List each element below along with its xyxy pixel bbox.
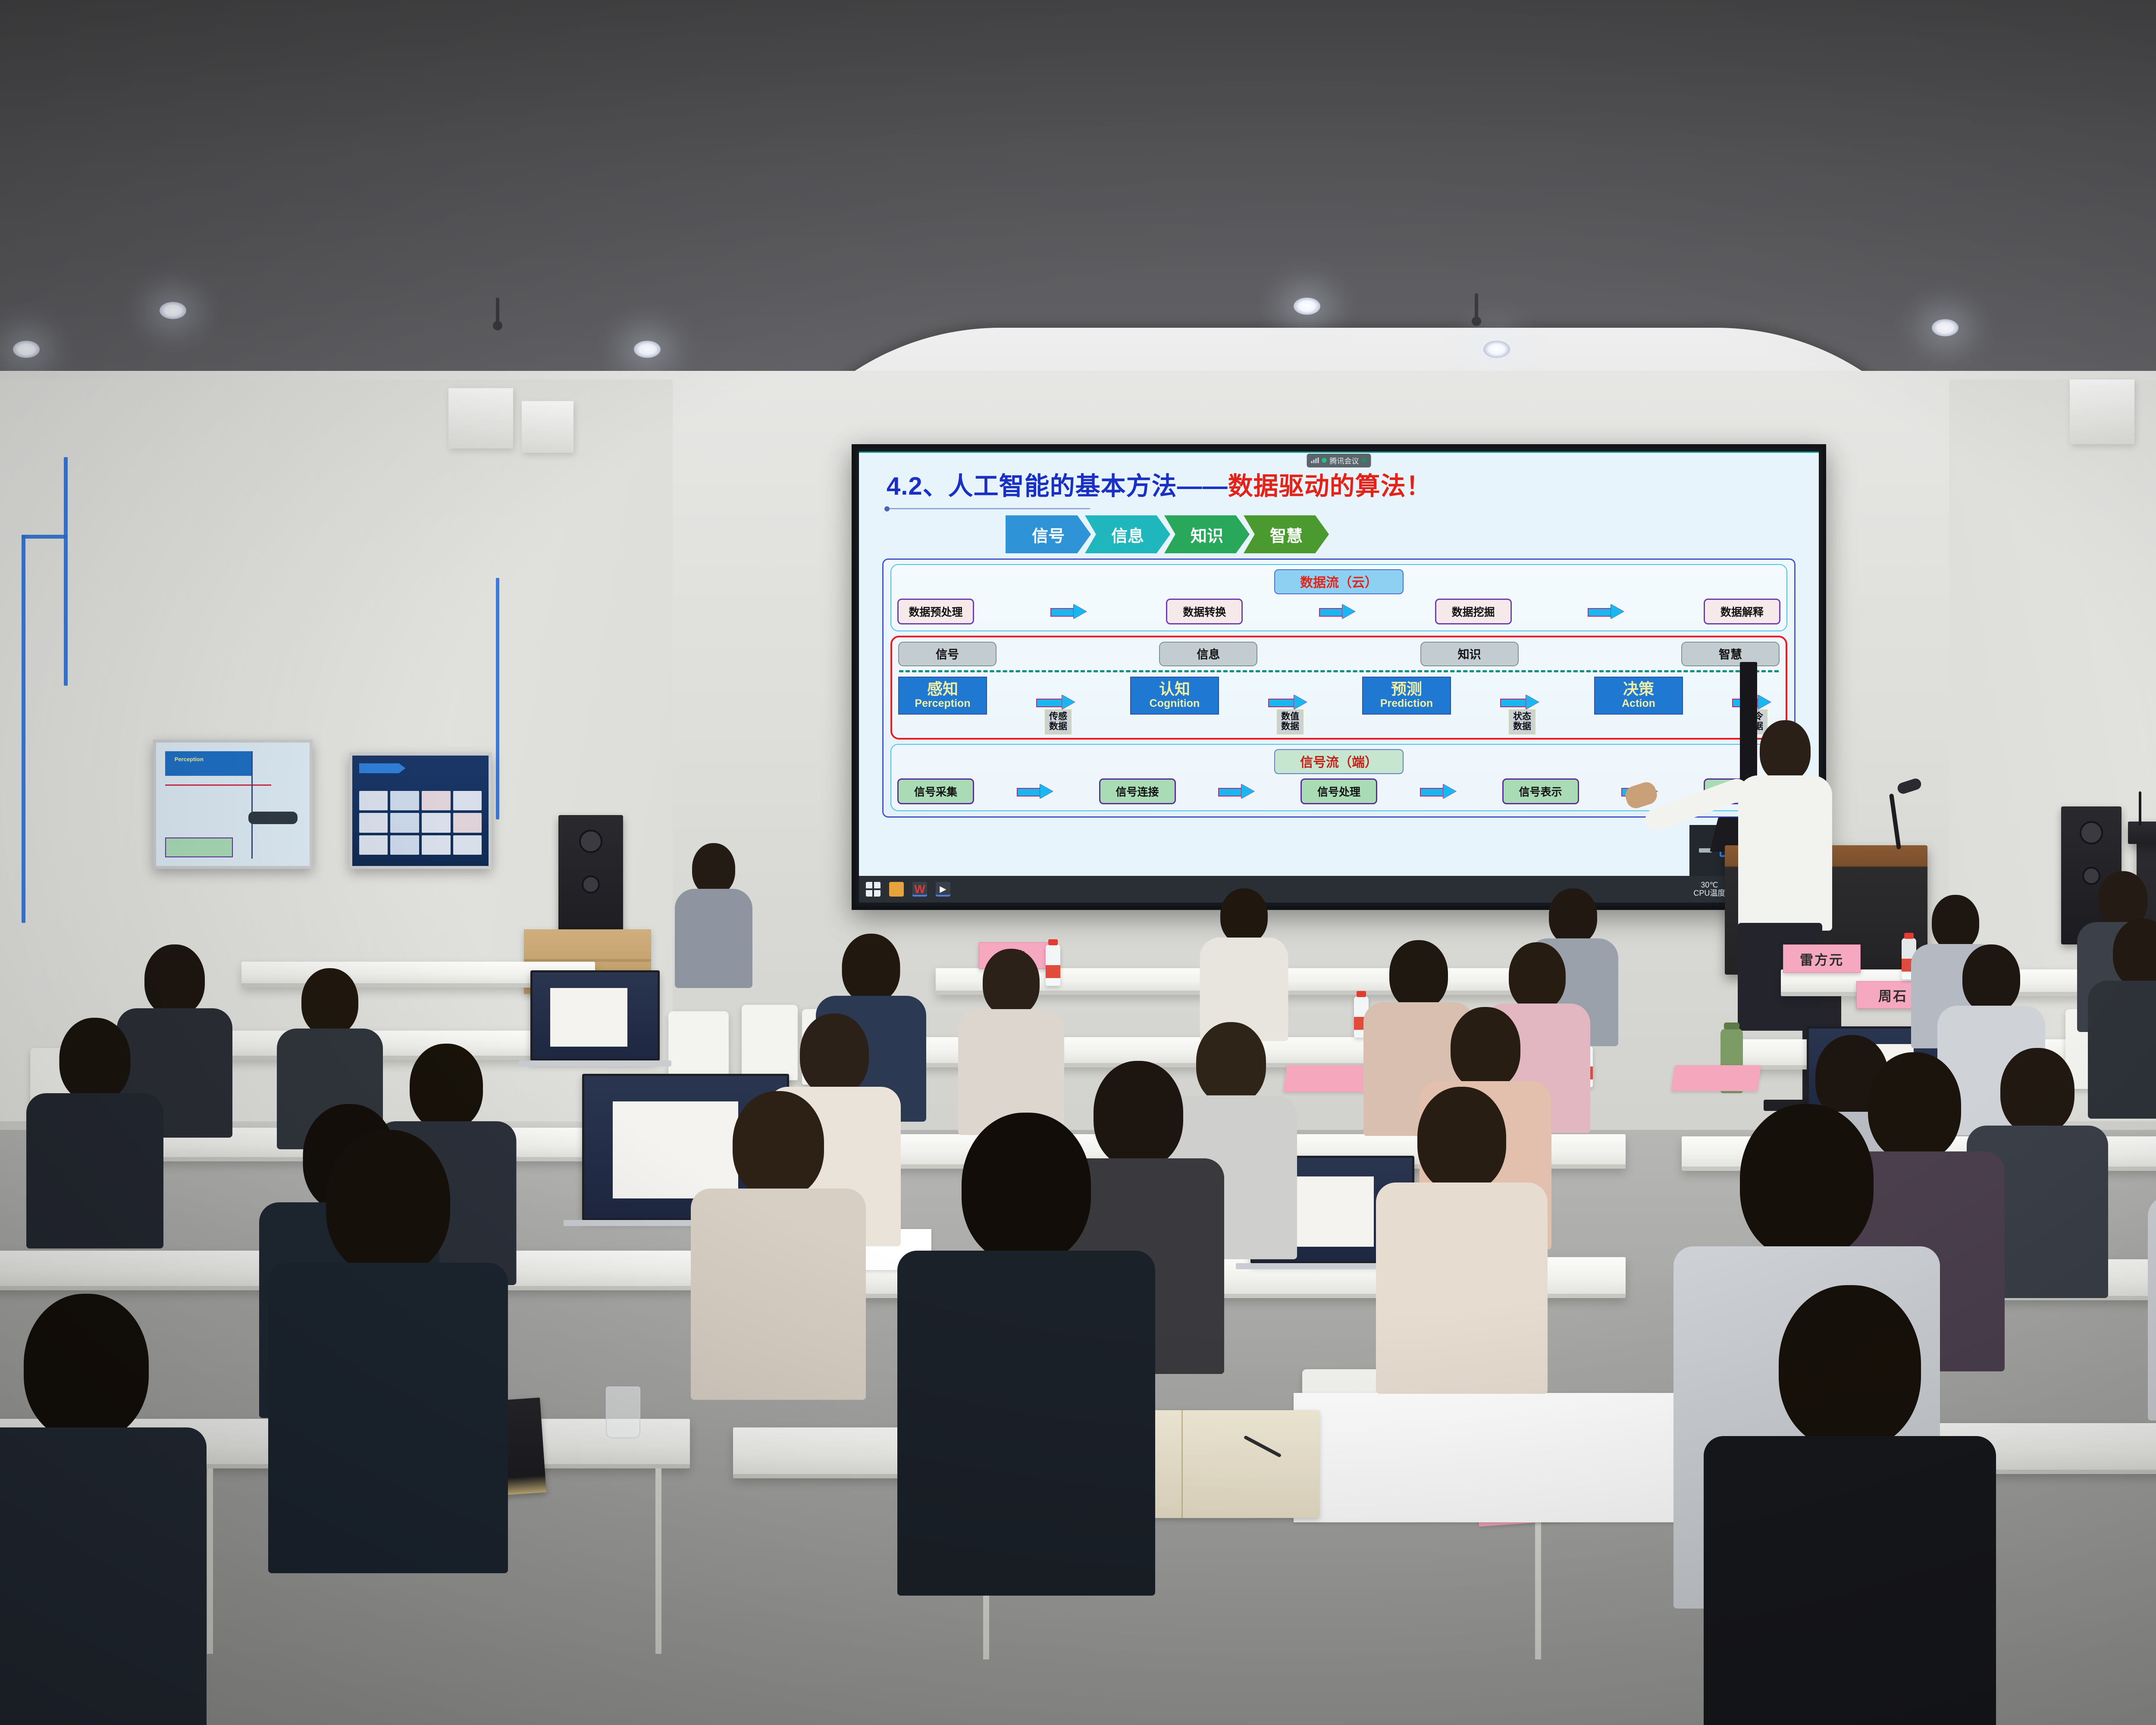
stage-cognition: 认知 Cognition xyxy=(1130,677,1219,715)
edge-label-sensor-data: 传感数据 xyxy=(1045,709,1072,734)
cpu-temp-value: 30℃ xyxy=(1693,881,1725,889)
arrow-right-icon xyxy=(1500,696,1545,709)
node-signal-processing: 信号处理 xyxy=(1300,778,1377,804)
recording-dot-icon xyxy=(1322,458,1327,463)
arrow-right-icon xyxy=(1036,696,1081,709)
slide-title-prefix: 4.2、人工智能的基本方法—— xyxy=(887,472,1228,500)
monitor-slide-mirror: Perception xyxy=(156,743,310,866)
tag-signal: 信号 xyxy=(898,642,997,666)
monitor-dark-slide xyxy=(352,756,489,866)
file-explorer-icon[interactable] xyxy=(889,882,904,897)
placard-lei-fangyuan: 雷方元 xyxy=(1783,944,1861,973)
ceiling-hanger xyxy=(1475,293,1478,319)
arrow-right-icon xyxy=(1420,785,1460,798)
cpu-temp-label: CPU温度 xyxy=(1693,889,1725,897)
wall-blue-trim xyxy=(496,578,499,819)
edge-band-title: 信号流（端） xyxy=(1274,749,1404,774)
ceiling-downlight xyxy=(1483,341,1510,358)
meeting-app-label: 腾讯会议 xyxy=(1330,455,1359,466)
monitor-mirror-text: Perception xyxy=(175,756,204,762)
windows-start-icon[interactable] xyxy=(866,882,881,897)
attendee xyxy=(957,949,1065,1130)
edge-label-state-data: 状态数据 xyxy=(1509,709,1536,734)
ceiling-downlight xyxy=(634,341,661,358)
slide-title-highlight: 数据驱动的算法！ xyxy=(1228,472,1432,500)
cpu-temperature-indicator: 30℃ CPU温度 xyxy=(1693,881,1725,898)
edge-numeric-data: 数值数据 xyxy=(1266,677,1316,732)
wps-presentation-icon[interactable]: ▶ xyxy=(936,882,950,897)
cloud-band-title: 数据流（云） xyxy=(1274,569,1404,594)
presenter-body xyxy=(1738,775,1832,931)
stage-action: 决策 Action xyxy=(1594,677,1683,715)
classroom-scene: Perception 赛事平台 xyxy=(0,0,2156,1725)
chevron-wisdom: 智慧 xyxy=(1244,515,1329,553)
tag-information: 信息 xyxy=(1159,642,1257,666)
node-data-preprocessing: 数据预处理 xyxy=(897,599,974,624)
attendee xyxy=(1376,1087,1548,1384)
desk-leg xyxy=(207,1468,213,1654)
edge-sensor-data: 传感数据 xyxy=(1034,677,1084,732)
arrow-right-icon xyxy=(1050,605,1090,618)
core-tag-row: 信号 信息 知识 智慧 xyxy=(898,642,1780,666)
arrow-right-icon xyxy=(1319,605,1359,618)
arrow-right-icon xyxy=(1218,785,1258,798)
diagram-card: 数据流（云） 数据预处理 数据转换 数据挖掘 数据解释 xyxy=(882,558,1796,818)
cloud-pipeline: 数据预处理 数据转换 数据挖掘 数据解释 xyxy=(897,599,1780,624)
attendee xyxy=(1199,888,1289,1031)
projection-screen[interactable]: 腾讯会议 4.2、人工智能的基本方法——数据驱动的算法！ 信号 信息 知识 智慧 xyxy=(859,452,1819,903)
arrow-right-icon xyxy=(1017,785,1056,798)
ceiling-downlight xyxy=(13,341,40,358)
mute-indicator-icon xyxy=(1362,458,1367,463)
node-data-transform: 数据转换 xyxy=(1166,599,1243,624)
node-signal-connection: 信号连接 xyxy=(1099,778,1176,804)
tag-wisdom: 智慧 xyxy=(1681,642,1780,666)
edge-label-numeric-data: 数值数据 xyxy=(1277,709,1304,734)
chevron-sequence: 信号 信息 知识 智慧 xyxy=(1006,515,1802,553)
edge-state-data: 状态数据 xyxy=(1498,677,1548,732)
title-underline xyxy=(887,508,1090,509)
wall-blue-trim xyxy=(22,535,25,923)
attendee xyxy=(2147,1095,2156,1410)
attendee xyxy=(0,1294,207,1725)
desk-leg xyxy=(655,1468,661,1654)
glass-cup xyxy=(606,1386,640,1438)
ceiling-hanger xyxy=(496,298,499,323)
attendee xyxy=(673,843,755,985)
wall-fin xyxy=(2070,379,2134,444)
stage-perception: 感知 Perception xyxy=(898,677,987,715)
node-data-mining: 数据挖掘 xyxy=(1435,599,1512,624)
wps-office-icon[interactable]: W xyxy=(912,882,927,897)
chevron-knowledge: 知识 xyxy=(1164,515,1250,553)
node-signal-representation: 信号表示 xyxy=(1502,778,1579,804)
tencent-meeting-overlay[interactable]: 腾讯会议 xyxy=(1307,454,1371,467)
attendee xyxy=(1703,1285,1996,1725)
tag-knowledge: 知识 xyxy=(1420,642,1519,666)
windows-taskbar[interactable]: W ▶ 30℃ CPU温度 ((• 正在讲话: 2 xyxy=(859,876,1819,903)
wall-fin xyxy=(522,401,573,453)
core-stage-band: 信号 信息 知识 智慧 感知 Perception xyxy=(890,636,1787,740)
cloud-dataflow-band: 数据流（云） 数据预处理 数据转换 数据挖掘 数据解释 xyxy=(890,564,1787,631)
router-unit xyxy=(2128,822,2156,844)
antenna-icon xyxy=(2139,791,2141,826)
slide-title: 4.2、人工智能的基本方法——数据驱动的算法！ xyxy=(887,466,1802,502)
node-signal-acquisition: 信号采集 xyxy=(897,778,974,804)
laptop-screen xyxy=(530,970,660,1061)
chevron-signal: 信号 xyxy=(1006,515,1091,553)
wall-blue-trim xyxy=(22,535,67,539)
presenter-head xyxy=(1760,720,1811,781)
arrow-right-icon xyxy=(1268,696,1313,709)
chevron-information: 信息 xyxy=(1085,515,1170,553)
attendee xyxy=(267,1130,509,1561)
ceiling-downlight xyxy=(1294,298,1320,315)
projection-screen-bezel: 腾讯会议 4.2、人工智能的基本方法——数据驱动的算法！ 信号 信息 知识 智慧 xyxy=(852,444,1826,910)
dashed-divider xyxy=(899,670,1779,672)
attendee xyxy=(26,1018,164,1242)
attendee xyxy=(690,1091,867,1389)
attendee xyxy=(897,1113,1156,1587)
wall-monitor-left-1: Perception xyxy=(153,740,313,869)
signal-bars-icon xyxy=(1311,458,1319,463)
wall-monitor-left-2 xyxy=(349,753,492,869)
wall-fin xyxy=(448,388,513,448)
wall-blue-trim xyxy=(64,457,68,686)
arrow-right-icon xyxy=(1588,605,1627,618)
stage-prediction: 预测 Prediction xyxy=(1362,677,1451,715)
pink-handout xyxy=(1671,1065,1761,1091)
ceiling-downlight xyxy=(160,302,186,319)
node-data-interpretation: 数据解释 xyxy=(1704,599,1780,624)
white-handout xyxy=(1294,1393,1725,1522)
core-stage-row: 感知 Perception 传感数据 认知 Cognition xyxy=(898,677,1780,732)
ceiling-downlight xyxy=(1932,319,1959,336)
